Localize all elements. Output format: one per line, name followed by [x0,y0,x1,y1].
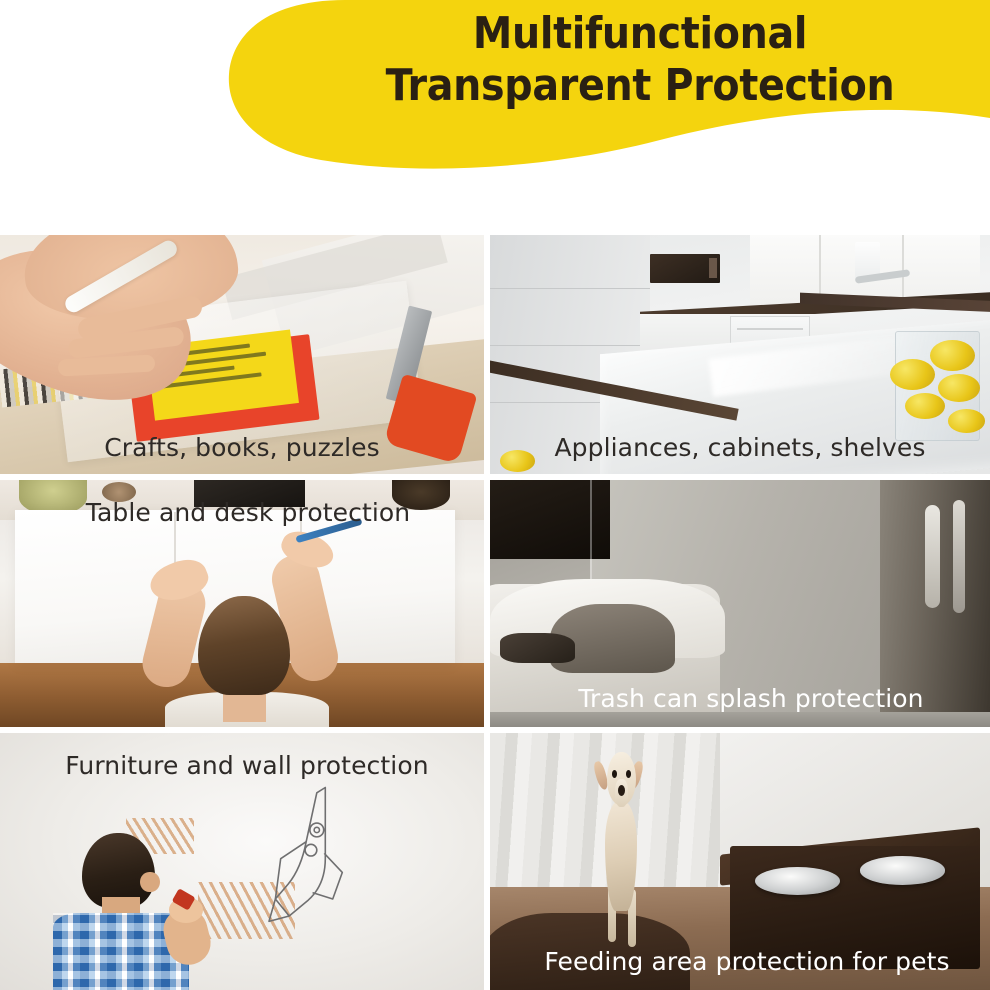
panel-crafts[interactable]: Crafts, books, puzzles [0,235,490,480]
panel-table-desk[interactable]: Table and desk protection [0,480,490,733]
panel-caption: Furniture and wall protection [0,751,484,780]
page-title: Multifunctional Transparent Protection [300,8,980,112]
panel-caption: Appliances, cabinets, shelves [490,433,990,462]
rocket-drawing-icon [218,779,392,938]
panel-caption: Feeding area protection for pets [490,947,990,976]
dog-figure [570,743,730,964]
panel-caption: Trash can splash protection [490,684,990,713]
panel-caption: Table and desk protection [0,498,484,527]
panel-appliances[interactable]: Appliances, cabinets, shelves [490,235,990,480]
benefit-panel-grid: Crafts, books, puzzles [0,235,990,990]
panel-pet-feeding[interactable]: Feeding area protection for pets [490,733,990,990]
panel-furniture-wall[interactable]: Furniture and wall protection [0,733,490,990]
panel-caption: Crafts, books, puzzles [0,433,484,462]
header-banner: Multifunctional Transparent Protection [0,0,990,235]
panel-trash-can[interactable]: Trash can splash protection [490,480,990,733]
product-infographic: Multifunctional Transparent Protection [0,0,990,990]
